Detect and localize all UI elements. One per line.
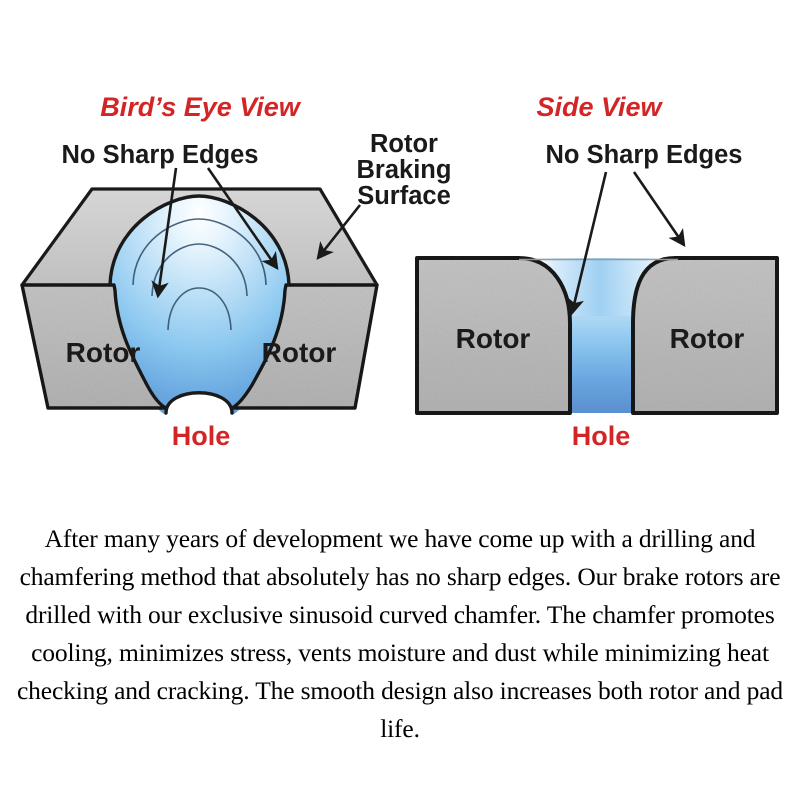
birds-eye-view-title: Bird’s Eye View bbox=[100, 92, 302, 122]
side-no-sharp-edges-label: No Sharp Edges bbox=[546, 141, 743, 169]
rotor-braking-surface-label-line1: Rotor bbox=[370, 130, 438, 158]
side-no-sharp-edges-arrow-right bbox=[634, 172, 684, 245]
side-rotor-right-label: Rotor bbox=[670, 323, 745, 354]
birds-eye-rotor-right-label: Rotor bbox=[262, 337, 337, 368]
side-hole-label: Hole bbox=[572, 421, 631, 451]
rotor-braking-surface-label-line2: Braking bbox=[357, 156, 452, 184]
side-view-group: Side View No Sharp Edges Rotor Rotor Hol… bbox=[417, 92, 777, 451]
side-rotor-left-label: Rotor bbox=[456, 323, 531, 354]
caption-paragraph: After many years of development we have … bbox=[0, 520, 800, 748]
birds-eye-rotor-left-label: Rotor bbox=[66, 337, 141, 368]
rotor-braking-surface-label-line3: Surface bbox=[357, 182, 451, 210]
rotor-chamfer-figure: Bird’s Eye View No Sharp Edges Rotor Bra… bbox=[0, 0, 800, 500]
side-view-title: Side View bbox=[536, 92, 663, 122]
birds-eye-view-group: Bird’s Eye View No Sharp Edges Rotor Bra… bbox=[22, 92, 451, 451]
birds-eye-no-sharp-edges-label: No Sharp Edges bbox=[62, 141, 259, 169]
diagram-page: Bird’s Eye View No Sharp Edges Rotor Bra… bbox=[0, 0, 800, 800]
birds-eye-hole-label: Hole bbox=[172, 421, 231, 451]
